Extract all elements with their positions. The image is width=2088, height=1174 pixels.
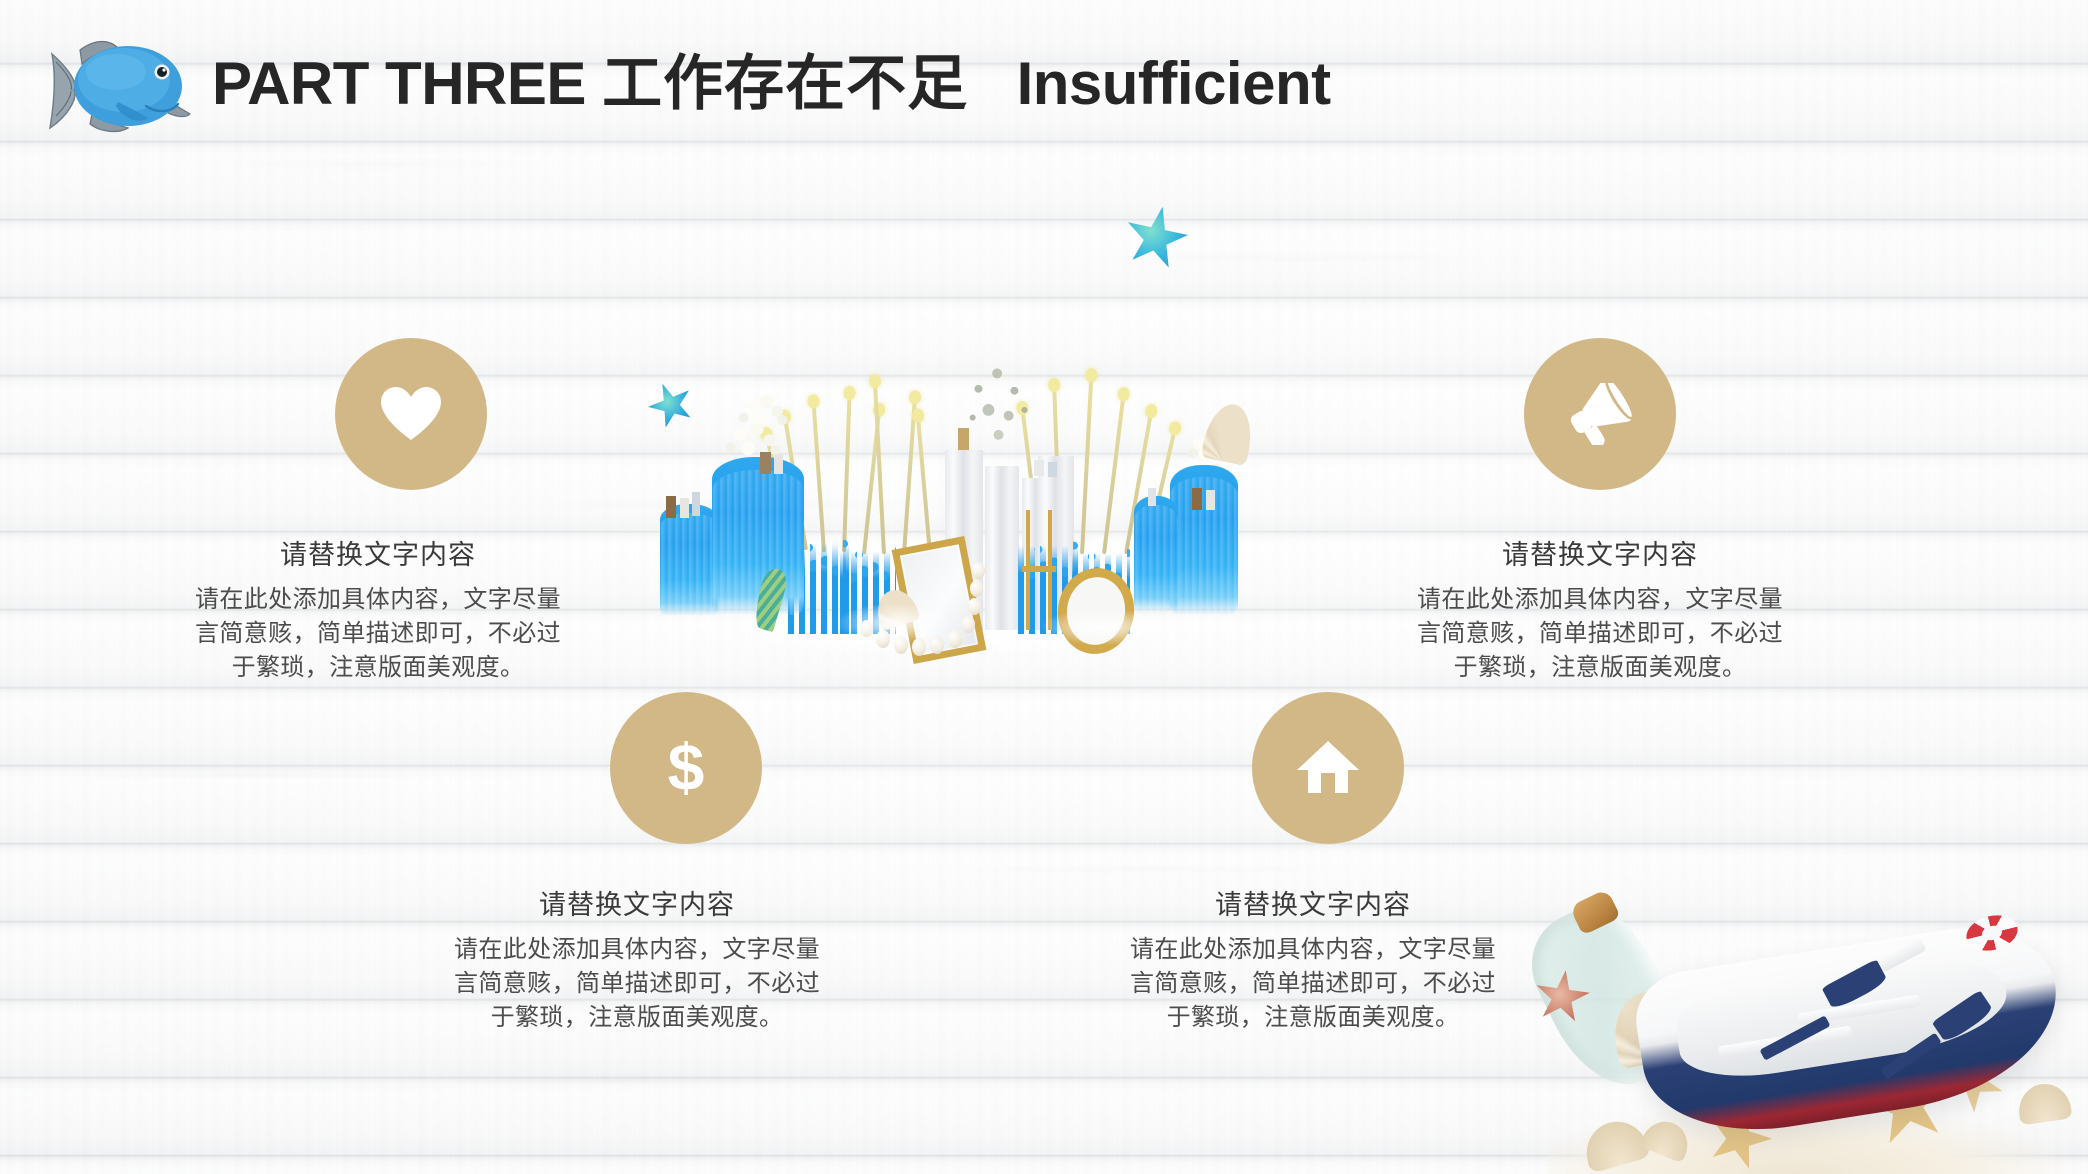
feature-text-megaphone: 请替换文字内容 请在此处添加具体内容，文字尽量 言简意赅，简单描述即可，不必过 …	[1400, 538, 1800, 685]
feature-body-line: 请在此处添加具体内容，文字尽量	[195, 586, 561, 613]
megaphone-icon	[1567, 383, 1633, 445]
mini-candle	[1148, 488, 1156, 506]
page-title: PART THREE 工作存在不足 Insufficient	[212, 46, 1331, 123]
mini-frame	[760, 452, 771, 474]
title-part-label: PART THREE	[212, 50, 586, 117]
foam	[1010, 606, 1180, 648]
feature-body-line: 言简意赅，简单描述即可，不必过	[1417, 620, 1783, 647]
feature-text-heart: 请替换文字内容 请在此处添加具体内容，文字尽量 言简意赅，简单描述即可，不必过 …	[178, 538, 578, 685]
feature-circle-dollar[interactable]: $	[610, 692, 762, 844]
feature-body-line: 请在此处添加具体内容，文字尽量	[454, 936, 820, 963]
mini-candle	[692, 492, 700, 516]
blue-tulle-table	[1170, 465, 1238, 615]
feature-title: 请替换文字内容	[437, 888, 837, 923]
mini-candle	[774, 454, 783, 474]
feature-body-line: 请在此处添加具体内容，文字尽量	[1417, 586, 1783, 613]
svg-text:$: $	[668, 732, 705, 804]
feature-circle-home[interactable]	[1252, 692, 1404, 844]
dollar-icon: $	[663, 732, 709, 804]
boat-photo-decoration	[1548, 844, 2088, 1174]
feature-body-line: 于繁琐，注意版面美观度。	[232, 654, 525, 681]
foam	[830, 600, 990, 646]
blue-tulle-table	[660, 504, 718, 616]
heart-icon	[380, 386, 442, 442]
slide-canvas: PART THREE 工作存在不足 Insufficient	[0, 0, 2088, 1174]
center-ocean-decor-illustration	[640, 300, 1240, 700]
feature-body-line: 请在此处添加具体内容，文字尽量	[1130, 936, 1496, 963]
feature-text-dollar: 请替换文字内容 请在此处添加具体内容，文字尽量 言简意赅，简单描述即可，不必过 …	[437, 888, 837, 1035]
white-flower-cluster	[736, 392, 790, 432]
pearl	[972, 562, 985, 579]
feature-body-line: 言简意赅，简单描述即可，不必过	[195, 620, 561, 647]
feature-body: 请在此处添加具体内容，文字尽量 言简意赅，简单描述即可，不必过 于繁琐，注意版面…	[178, 583, 578, 685]
feature-body-line: 于繁琐，注意版面美观度。	[1454, 654, 1747, 681]
mini-lantern	[958, 428, 969, 450]
mini-frame	[1034, 460, 1044, 476]
mini-candle	[680, 498, 689, 518]
mini-frame	[666, 496, 676, 518]
pearl	[970, 580, 983, 597]
feature-title: 请替换文字内容	[1113, 888, 1513, 923]
feature-circle-heart[interactable]	[335, 338, 487, 490]
feature-body-line: 于繁琐，注意版面美观度。	[491, 1004, 784, 1031]
mini-candle	[1206, 490, 1215, 510]
dried-bouquet	[964, 360, 1036, 456]
mini-frame	[1048, 462, 1057, 477]
feature-body: 请在此处添加具体内容，文字尽量 言简意赅，简单描述即可，不必过 于繁琐，注意版面…	[1400, 583, 1800, 685]
slide-header: PART THREE 工作存在不足 Insufficient	[0, 0, 2088, 170]
blue-tulle-table	[712, 457, 804, 615]
blue-tulle-table	[1134, 496, 1178, 612]
feature-body: 请在此处添加具体内容，文字尽量 言简意赅，简单描述即可，不必过 于繁琐，注意版面…	[1113, 933, 1513, 1035]
feature-body-line: 言简意赅，简单描述即可，不必过	[454, 970, 820, 997]
mini-frame	[1192, 488, 1202, 510]
feature-text-home: 请替换文字内容 请在此处添加具体内容，文字尽量 言简意赅，简单描述即可，不必过 …	[1113, 888, 1513, 1035]
feature-body: 请在此处添加具体内容，文字尽量 言简意赅，简单描述即可，不必过 于繁琐，注意版面…	[437, 933, 837, 1035]
feature-title: 请替换文字内容	[1400, 538, 1800, 573]
feature-title: 请替换文字内容	[178, 538, 578, 573]
feature-circle-megaphone[interactable]	[1524, 338, 1676, 490]
blue-fish-icon	[44, 32, 194, 140]
title-english-label: Insufficient	[1017, 50, 1331, 117]
feature-body-line: 于繁琐，注意版面美观度。	[1167, 1004, 1460, 1031]
title-chinese-label: 工作存在不足	[602, 50, 968, 117]
feature-body-line: 言简意赅，简单描述即可，不必过	[1130, 970, 1496, 997]
home-icon	[1296, 739, 1360, 797]
